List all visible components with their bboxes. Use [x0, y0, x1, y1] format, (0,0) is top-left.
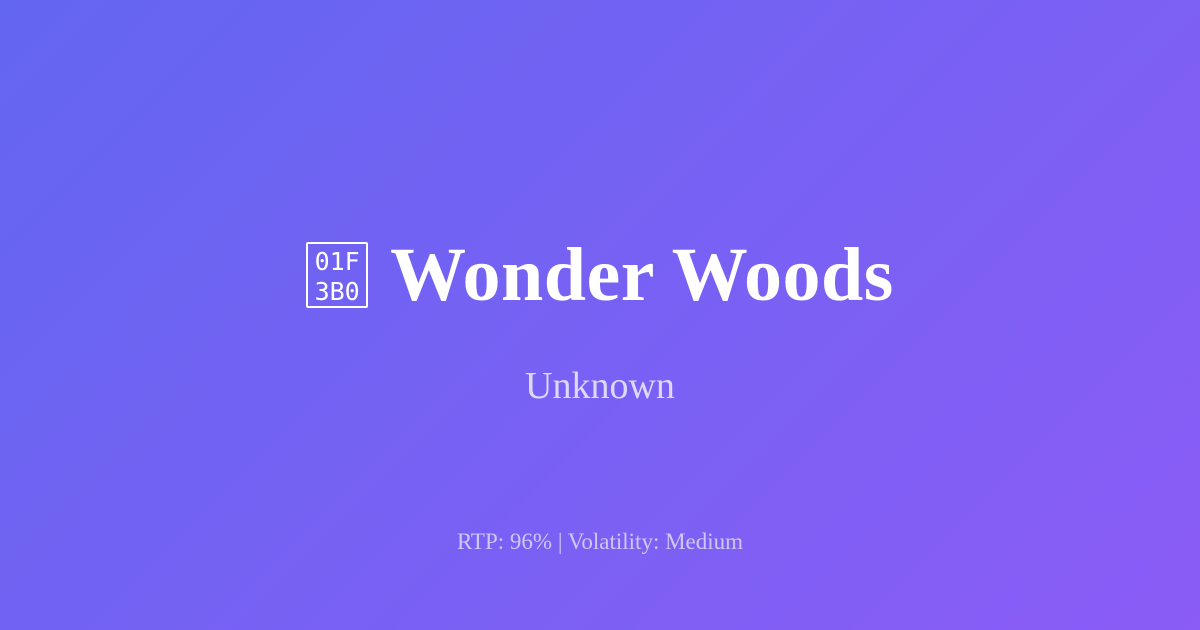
slot-machine-icon: 01F 3B0: [306, 242, 368, 308]
provider-subtitle: Unknown: [0, 362, 1200, 410]
slot-machine-icon-codepoint-line2: 3B0: [315, 277, 360, 306]
game-preview-card: 01F 3B0 Wonder Woods Unknown RTP: 96% | …: [0, 0, 1200, 630]
page-title: Wonder Woods: [390, 231, 894, 319]
game-stats-line: RTP: 96% | Volatility: Medium: [0, 526, 1200, 558]
slot-machine-icon-codepoint-line1: 01F: [315, 247, 360, 276]
title-row: 01F 3B0 Wonder Woods: [0, 231, 1200, 319]
